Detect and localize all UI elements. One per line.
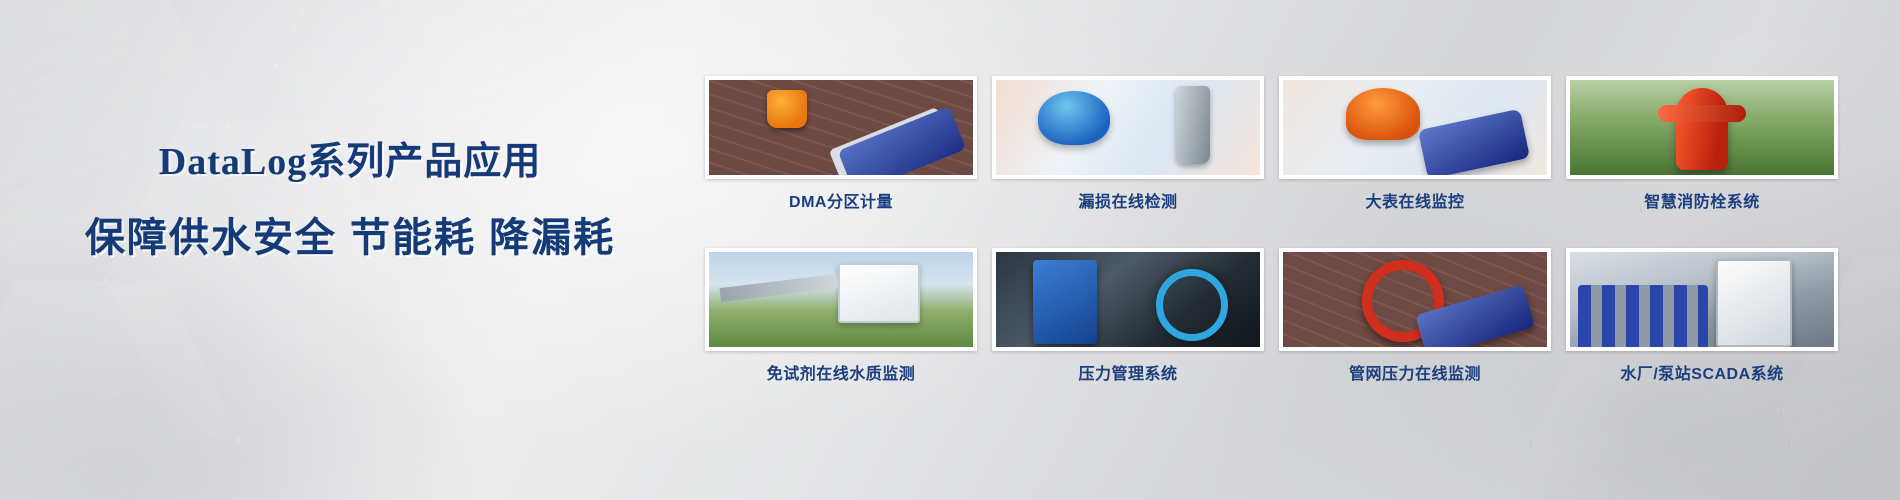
- product-card[interactable]: 管网压力在线监测: [1279, 248, 1551, 391]
- product-card[interactable]: 压力管理系统: [992, 248, 1264, 391]
- product-thumbnail[interactable]: [1279, 248, 1551, 351]
- product-caption: 大表在线监控: [1279, 188, 1551, 212]
- smart-fire-hydrant-photo: [1570, 80, 1834, 175]
- product-card[interactable]: 水厂/泵站SCADA系统: [1566, 248, 1838, 391]
- banner-headline: DataLog系列产品应用 保障供水安全 节能耗 降漏耗: [0, 140, 700, 262]
- product-grid: DMA分区计量 漏损在线检测 大表在线监控 智慧消防栓系统 免试剂在线水质监测: [705, 76, 1845, 391]
- leak-detection-logger-photo: [996, 80, 1260, 175]
- product-thumbnail[interactable]: [705, 248, 977, 351]
- product-thumbnail[interactable]: [1279, 76, 1551, 179]
- product-caption: 智慧消防栓系统: [1566, 188, 1838, 212]
- product-caption: 漏损在线检测: [992, 188, 1264, 212]
- product-caption: 管网压力在线监测: [1279, 360, 1551, 384]
- product-card[interactable]: 漏损在线检测: [992, 76, 1264, 219]
- product-card[interactable]: 智慧消防栓系统: [1566, 76, 1838, 219]
- product-thumbnail[interactable]: [1566, 76, 1838, 179]
- product-thumbnail[interactable]: [992, 76, 1264, 179]
- product-card[interactable]: DMA分区计量: [705, 76, 977, 219]
- product-card[interactable]: 免试剂在线水质监测: [705, 248, 977, 391]
- product-thumbnail[interactable]: [705, 76, 977, 179]
- headline-line-2: 保障供水安全 节能耗 降漏耗: [0, 214, 700, 262]
- product-caption: DMA分区计量: [705, 188, 977, 212]
- product-card[interactable]: 大表在线监控: [1279, 76, 1551, 219]
- product-application-banner: DataLog系列产品应用 保障供水安全 节能耗 降漏耗 DMA分区计量 漏损在…: [0, 0, 1900, 500]
- waterworks-pump-scada-cabinet-photo: [1570, 252, 1834, 347]
- headline-line-1: DataLog系列产品应用: [0, 140, 700, 186]
- pipe-network-pressure-valve-photo: [1283, 252, 1547, 347]
- product-caption: 压力管理系统: [992, 360, 1264, 384]
- large-meter-monitor-photo: [1283, 80, 1547, 175]
- reagent-free-water-quality-station-photo: [709, 252, 973, 347]
- product-thumbnail[interactable]: [1566, 248, 1838, 351]
- product-caption: 水厂/泵站SCADA系统: [1566, 360, 1838, 384]
- product-thumbnail[interactable]: [992, 248, 1264, 351]
- product-caption: 免试剂在线水质监测: [705, 360, 977, 384]
- pressure-management-cabinet-photo: [996, 252, 1260, 347]
- dma-metering-valve-photo: [709, 80, 973, 175]
